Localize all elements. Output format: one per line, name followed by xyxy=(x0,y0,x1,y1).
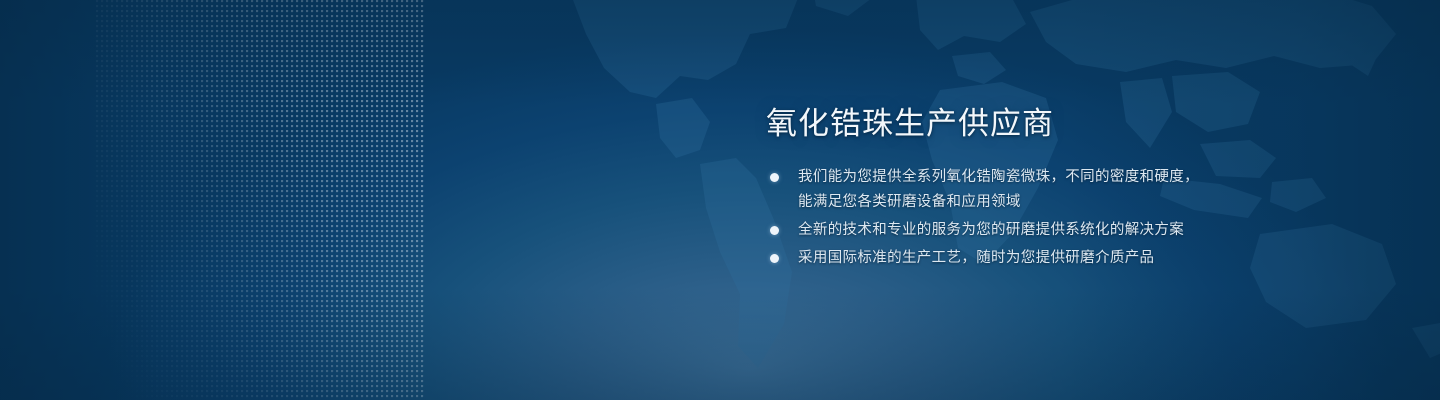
benefit-item-3: 采用国际标准的生产工艺，随时为您提供研磨介质产品 xyxy=(766,246,1236,271)
benefit-item-2: 全新的技术和专业的服务为您的研磨提供系统化的解决方案 xyxy=(766,218,1236,243)
benefit-item-3-line-1: 采用国际标准的生产工艺，随时为您提供研磨介质产品 xyxy=(798,246,1236,271)
bullet-dot-icon xyxy=(770,254,779,263)
bullet-dot-icon xyxy=(770,226,779,235)
bullet-dot-icon xyxy=(770,173,779,182)
benefit-list: 我们能为您提供全系列氧化锆陶瓷微珠，不同的密度和硬度， 能满足您各类研磨设备和应… xyxy=(766,165,1236,271)
benefit-item-2-line-1: 全新的技术和专业的服务为您的研磨提供系统化的解决方案 xyxy=(798,218,1236,243)
benefit-item-1-line-2: 能满足您各类研磨设备和应用领域 xyxy=(798,190,1236,215)
benefit-item-1: 我们能为您提供全系列氧化锆陶瓷微珠，不同的密度和硬度， 能满足您各类研磨设备和应… xyxy=(766,165,1236,215)
benefit-item-1-line-1: 我们能为您提供全系列氧化锆陶瓷微珠，不同的密度和硬度， xyxy=(798,165,1236,190)
hero-banner: 氧化锆珠生产供应商 我们能为您提供全系列氧化锆陶瓷微珠，不同的密度和硬度， 能满… xyxy=(0,0,1440,400)
banner-copy: 氧化锆珠生产供应商 我们能为您提供全系列氧化锆陶瓷微珠，不同的密度和硬度， 能满… xyxy=(766,104,1236,274)
banner-headline: 氧化锆珠生产供应商 xyxy=(766,104,1236,144)
